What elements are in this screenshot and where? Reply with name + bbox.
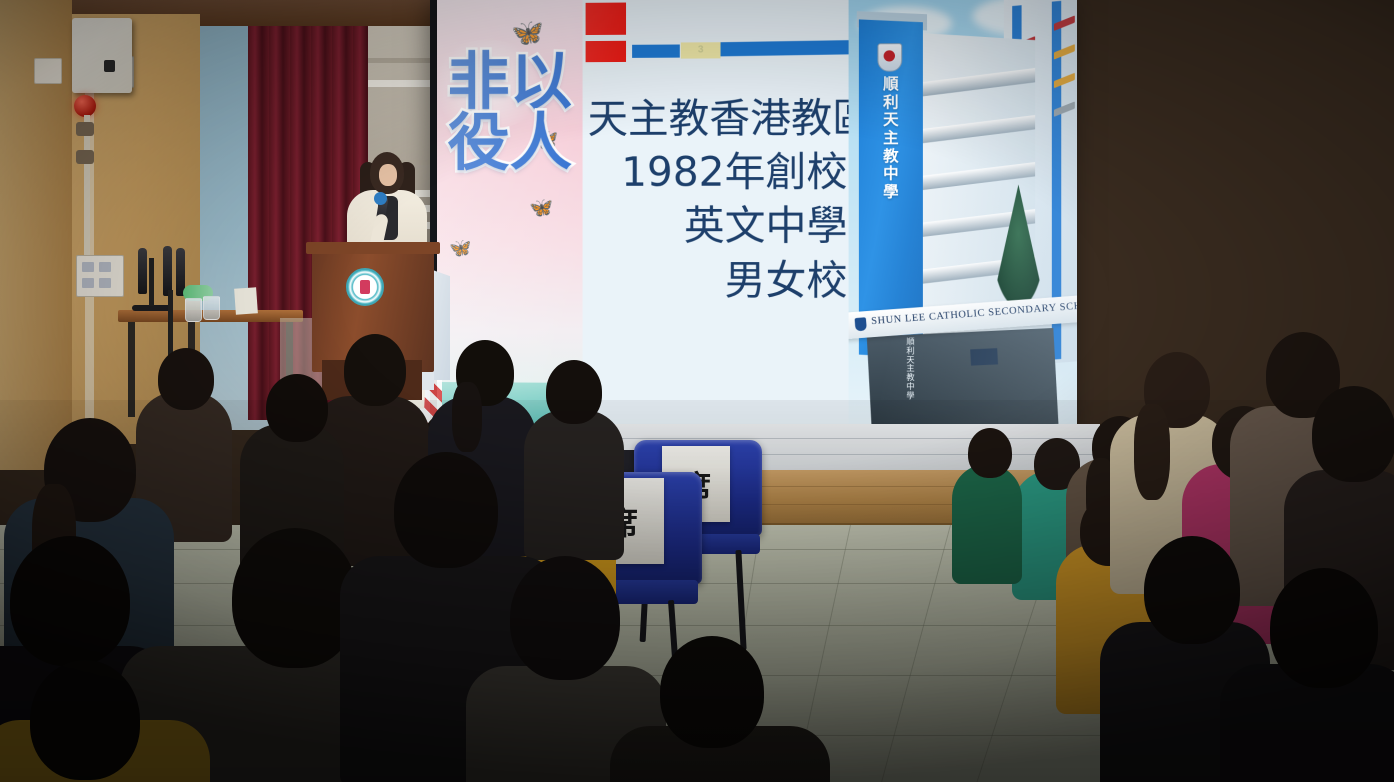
wall-speaker-icon	[72, 18, 132, 93]
slide-line-1: 天主教香港教區主辦	[588, 92, 848, 147]
slide-header-red-block-top	[586, 3, 626, 35]
slide-line-2: 1982年創校	[588, 146, 848, 200]
water-glass-a	[185, 298, 202, 322]
slide-header-red-block-bottom	[586, 41, 626, 62]
slide-header-blue-left	[632, 44, 680, 57]
slide-body: 天主教香港教區主辦 1982年創校 英文中學 男女校	[588, 64, 854, 428]
signboard-crest-icon	[855, 317, 867, 331]
presenter-face	[379, 164, 397, 186]
water-glass-b	[203, 296, 220, 320]
slide-motto-text: 非以役人	[437, 51, 583, 173]
mic-stand-a	[149, 258, 154, 306]
alarm-light-icon	[74, 95, 96, 117]
microphone-head-icon	[374, 192, 387, 205]
butterfly-icon-4: 🦋	[449, 238, 471, 259]
entrance-vertical-text: 順利天主教中學	[906, 338, 918, 401]
school-name-vertical: 順利天主教中學	[879, 76, 902, 202]
projection-screen: 🦋 🦋 🦋 🦋 非以役人 3 天主教香港教區主辦 1982年創校 英文中學 男女…	[437, 0, 1077, 429]
podium-school-emblem-icon	[346, 268, 384, 306]
butterfly-icon-3: 🦋	[529, 196, 553, 220]
school-building-photo: 順利天主教中學 順利天主教中學 SHUN LEE CATHOLIC SECOND…	[849, 0, 1077, 429]
slide-page-number: 3	[681, 42, 721, 58]
wall-plate-a	[34, 58, 62, 84]
microphone-b[interactable]	[163, 246, 172, 296]
entrance-plaque	[970, 348, 998, 366]
room-background: 🦋 🦋 🦋 🦋 非以役人 3 天主教香港教區主辦 1982年創校 英文中學 男女…	[0, 0, 1394, 782]
school-entrance	[867, 328, 1059, 429]
cable-conduit	[84, 115, 90, 265]
table-card	[234, 287, 258, 314]
slide-line-3: 英文中學	[588, 200, 848, 254]
conduit-clamp-a	[76, 122, 94, 136]
slide-text-block: 天主教香港教區主辦 1982年創校 英文中學 男女校	[588, 92, 854, 308]
conduit-clamp-b	[76, 150, 94, 164]
photo-scene: 🦋 🦋 🦋 🦋 非以役人 3 天主教香港教區主辦 1982年創校 英文中學 男女…	[0, 0, 1394, 782]
microphone-a[interactable]	[138, 248, 147, 294]
power-socket[interactable]	[76, 255, 124, 297]
slide-line-4: 男女校	[588, 254, 848, 308]
school-crest-icon	[877, 43, 902, 72]
